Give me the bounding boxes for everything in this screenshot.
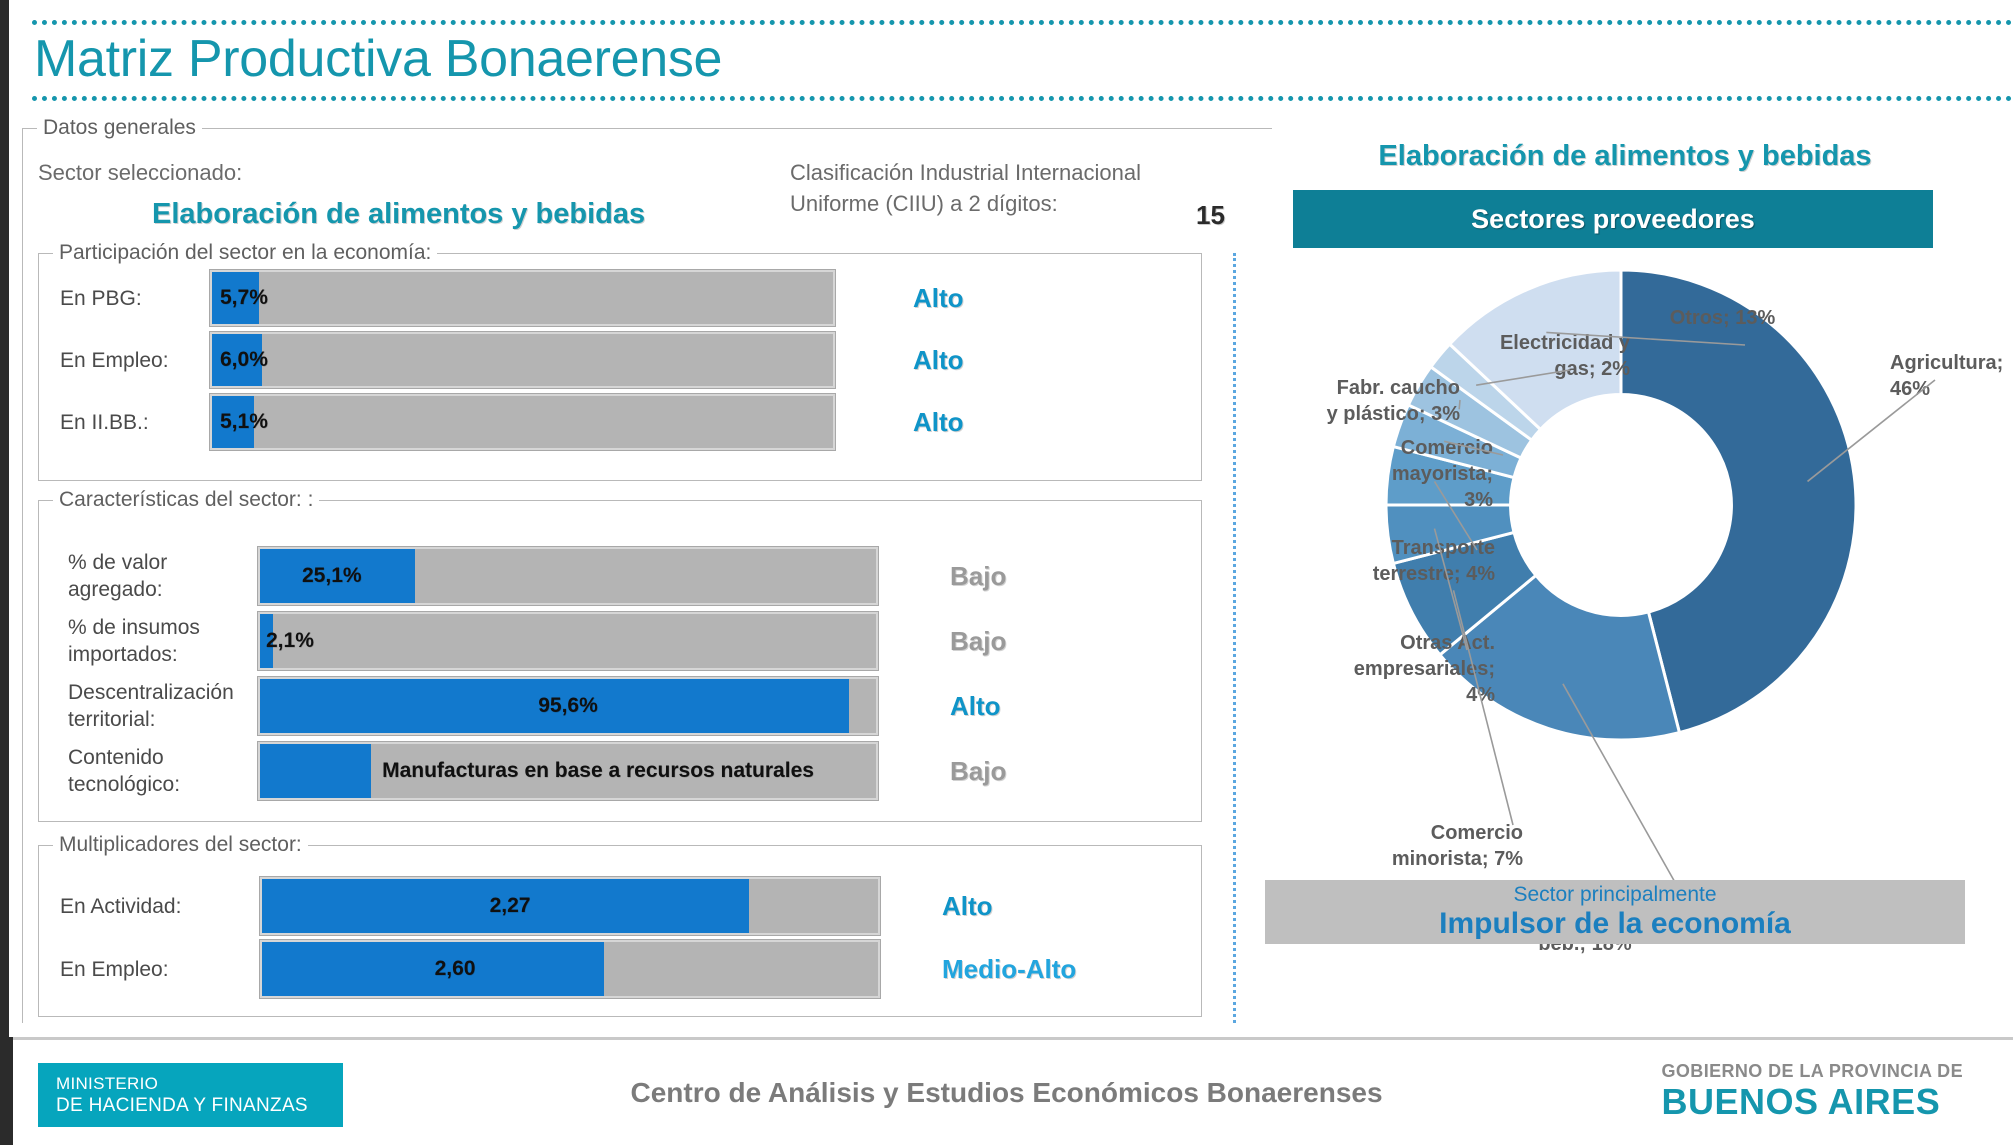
caracteristicas-legend: Características del sector: :: [53, 488, 319, 512]
rating-badge: Medio-Alto: [942, 954, 1076, 985]
progress-bar: 2,27: [260, 877, 880, 935]
gobierno-line2: BUENOS AIRES: [1662, 1082, 1964, 1122]
chart-title: Elaboración de alimentos y bebidas: [1245, 140, 2005, 173]
progress-bar-value: 5,1%: [220, 410, 268, 434]
footer-divider: [13, 1037, 2013, 1040]
multiplicadores-legend: Multiplicadores del sector:: [53, 833, 308, 857]
sector-seleccionado-label: Sector seleccionado:: [38, 160, 242, 186]
left-edge-strip: [0, 0, 9, 1145]
ciiu-label: Clasificación Industrial Internacional U…: [790, 157, 1180, 219]
progress-bar-value: 2,60: [262, 957, 878, 981]
donut-slice-label: Transporte terrestre; 4%: [1305, 535, 1495, 587]
progress-bar-value: 5,7%: [220, 286, 268, 310]
donut-chart: Agricultura; 46%Elab. Alim. y beb.; 18%C…: [1245, 250, 2005, 950]
progress-bar: 5,1%: [210, 394, 835, 450]
metric-label: En Actividad:: [60, 893, 260, 920]
progress-bar-value: 2,1%: [266, 629, 314, 653]
metric-row: En PBG: 5,7% Alto: [60, 268, 1190, 328]
rating-badge: Alto: [913, 407, 964, 438]
datos-generales-legend: Datos generales: [37, 116, 202, 140]
rating-badge: Bajo: [950, 561, 1006, 592]
progress-bar: 25,1%: [258, 547, 878, 605]
panel-divider: [1233, 253, 1236, 1023]
metric-label: En II.BB.:: [60, 409, 210, 436]
metric-label: % de valor agregado:: [68, 549, 258, 603]
progress-bar: Manufacturas en base a recursos naturale…: [258, 742, 878, 800]
sector-seleccionado-value: Elaboración de alimentos y bebidas: [152, 198, 645, 231]
progress-bar: 95,6%: [258, 677, 878, 735]
metric-label: Contenido tecnológico:: [68, 744, 258, 798]
metric-label: En Empleo:: [60, 347, 210, 374]
sectores-proveedores-banner: Sectores proveedores: [1293, 190, 1933, 248]
rating-badge: Alto: [913, 283, 964, 314]
progress-bar: 2,60: [260, 940, 880, 998]
metric-label: En Empleo:: [60, 956, 260, 983]
rating-badge: Alto: [913, 345, 964, 376]
title-block: Matriz Productiva Bonaerense: [20, 8, 2013, 100]
metric-row: En II.BB.: 5,1% Alto: [60, 392, 1190, 452]
rating-badge: Bajo: [950, 756, 1006, 787]
participacion-legend: Participación del sector en la economía:: [53, 241, 437, 265]
donut-slice-label: Otros; 13%: [1635, 305, 1810, 331]
metric-label: Descentralización territorial:: [68, 679, 258, 733]
progress-bar-value: Manufacturas en base a recursos naturale…: [260, 759, 876, 783]
title-rule-bottom: [32, 96, 2013, 101]
donut-slice-label: Comercio mayorista; 3%: [1333, 435, 1493, 513]
metric-row: Descentralización territorial: 95,6% Alt…: [68, 675, 1198, 737]
donut-slice-label: Electricidad y gas; 2%: [1455, 330, 1630, 382]
donut-slice-label: Agricultura; 46%: [1890, 350, 2013, 402]
progress-bar-value: 2,27: [262, 894, 878, 918]
metric-row: % de valor agregado: 25,1% Bajo: [68, 545, 1198, 607]
progress-bar: 2,1%: [258, 612, 878, 670]
impulsor-box: Sector principalmente Impulsor de la eco…: [1265, 880, 1965, 944]
gobierno-logo: GOBIERNO DE LA PROVINCIA DE BUENOS AIRES: [1662, 1060, 1964, 1122]
rating-badge: Alto: [942, 891, 993, 922]
rating-badge: Bajo: [950, 626, 1006, 657]
progress-bar: 6,0%: [210, 332, 835, 388]
metric-label: En PBG:: [60, 285, 210, 312]
donut-slice-label: Fabr. caucho y plástico; 3%: [1285, 375, 1460, 427]
donut-slice-label: Comercio minorista; 7%: [1333, 820, 1523, 872]
metric-row: % de insumos importados: 2,1% Bajo: [68, 610, 1198, 672]
right-panel: Elaboración de alimentos y bebidas Secto…: [1245, 130, 2005, 1030]
metric-label: % de insumos importados:: [68, 614, 258, 668]
donut-slice-label: Otras Act. empresariales; 4%: [1285, 630, 1495, 708]
gobierno-line1: GOBIERNO DE LA PROVINCIA DE: [1662, 1060, 1964, 1082]
progress-bar-value: 6,0%: [220, 348, 268, 372]
progress-bar-value: 95,6%: [260, 694, 876, 718]
impulsor-title: Impulsor de la economía: [1439, 907, 1791, 941]
page-title: Matriz Productiva Bonaerense: [34, 24, 722, 94]
progress-bar-value: 25,1%: [302, 564, 362, 588]
metric-row: En Empleo: 2,60 Medio-Alto: [60, 938, 1190, 1000]
metric-row: En Empleo: 6,0% Alto: [60, 330, 1190, 390]
rating-badge: Alto: [950, 691, 1001, 722]
progress-bar: 5,7%: [210, 270, 835, 326]
metric-row: Contenido tecnológico: Manufacturas en b…: [68, 740, 1198, 802]
metric-row: En Actividad: 2,27 Alto: [60, 875, 1190, 937]
impulsor-subtitle: Sector principalmente: [1513, 883, 1716, 907]
ciiu-value: 15: [1196, 200, 1225, 231]
